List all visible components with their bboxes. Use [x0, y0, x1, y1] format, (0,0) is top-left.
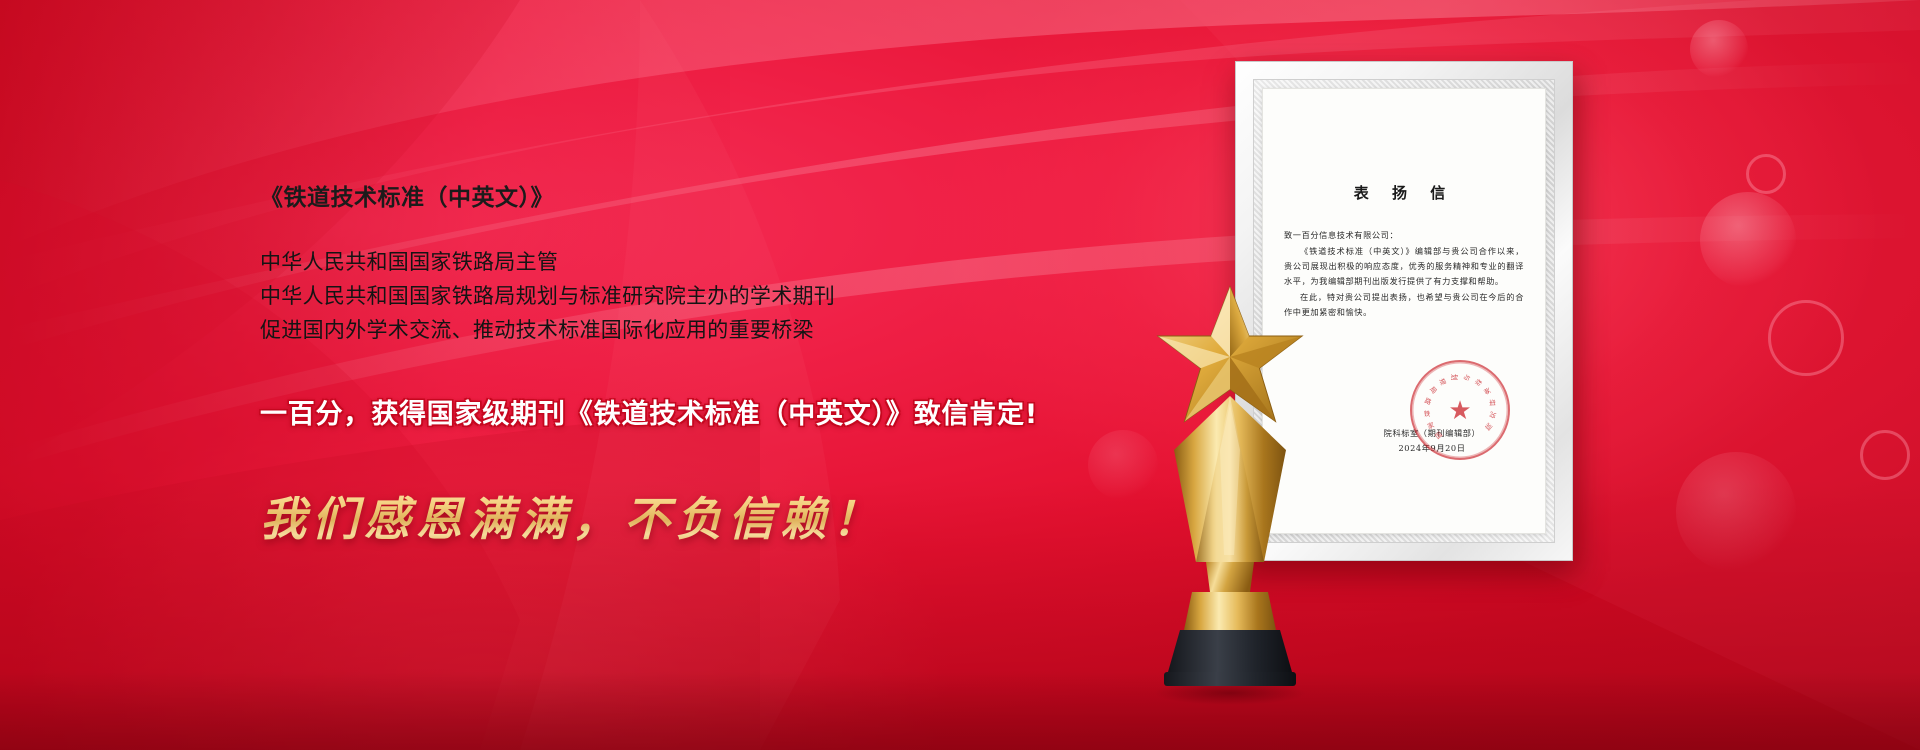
- bokeh-circle-icon: [1746, 154, 1786, 194]
- journal-title: 《铁道技术标准（中英文）》: [260, 178, 1210, 212]
- certificate-seal-text: 国家铁路局规划与标准研究院: [1421, 371, 1499, 449]
- certificate-title: 表 扬 信: [1262, 182, 1546, 203]
- bokeh-circle-icon: [1860, 430, 1910, 480]
- certificate-paragraph-2: 在此，特对贵公司提出表扬，也希望与贵公司在今后的合作中更加紧密和愉快。: [1284, 290, 1524, 320]
- certificate-seal: ★ 国家铁路局规划与标准研究院: [1410, 360, 1510, 460]
- bokeh-circle-icon: [1768, 300, 1844, 376]
- certificate-salutation: 致一百分信息技术有限公司：: [1284, 228, 1524, 243]
- copy-block: 《铁道技术标准（中英文）》 中华人民共和国国家铁路局主管 中华人民共和国国家铁路…: [260, 178, 1210, 549]
- description-line-2: 中华人民共和国国家铁路局规划与标准研究院主办的学术期刊: [260, 280, 1210, 312]
- trophy: [1140, 300, 1320, 700]
- certificate-body: 致一百分信息技术有限公司： 《铁道技术标准（中英文）》编辑部与贵公司合作以来，贵…: [1284, 228, 1524, 321]
- bokeh-circle-icon: [1700, 192, 1796, 288]
- gold-star-icon: [1154, 280, 1306, 430]
- description-line-1: 中华人民共和国国家铁路局主管: [260, 246, 1210, 278]
- headline-text: 一百分，获得国家级期刊《铁道技术标准（中英文）》致信肯定!: [260, 392, 1210, 431]
- bokeh-circle-icon: [1690, 20, 1748, 78]
- description-line-3: 促进国内外学术交流、推动技术标准国际化应用的重要桥梁: [260, 314, 1210, 346]
- certificate-paragraph-1: 《铁道技术标准（中英文）》编辑部与贵公司合作以来，贵公司展现出积极的响应态度，优…: [1284, 244, 1524, 289]
- background-floor-shadow: [0, 672, 1920, 750]
- banner-stage: 《铁道技术标准（中英文）》 中华人民共和国国家铁路局主管 中华人民共和国国家铁路…: [0, 0, 1920, 750]
- gold-slogan: 我们感恩满满，不负信赖！: [260, 483, 884, 549]
